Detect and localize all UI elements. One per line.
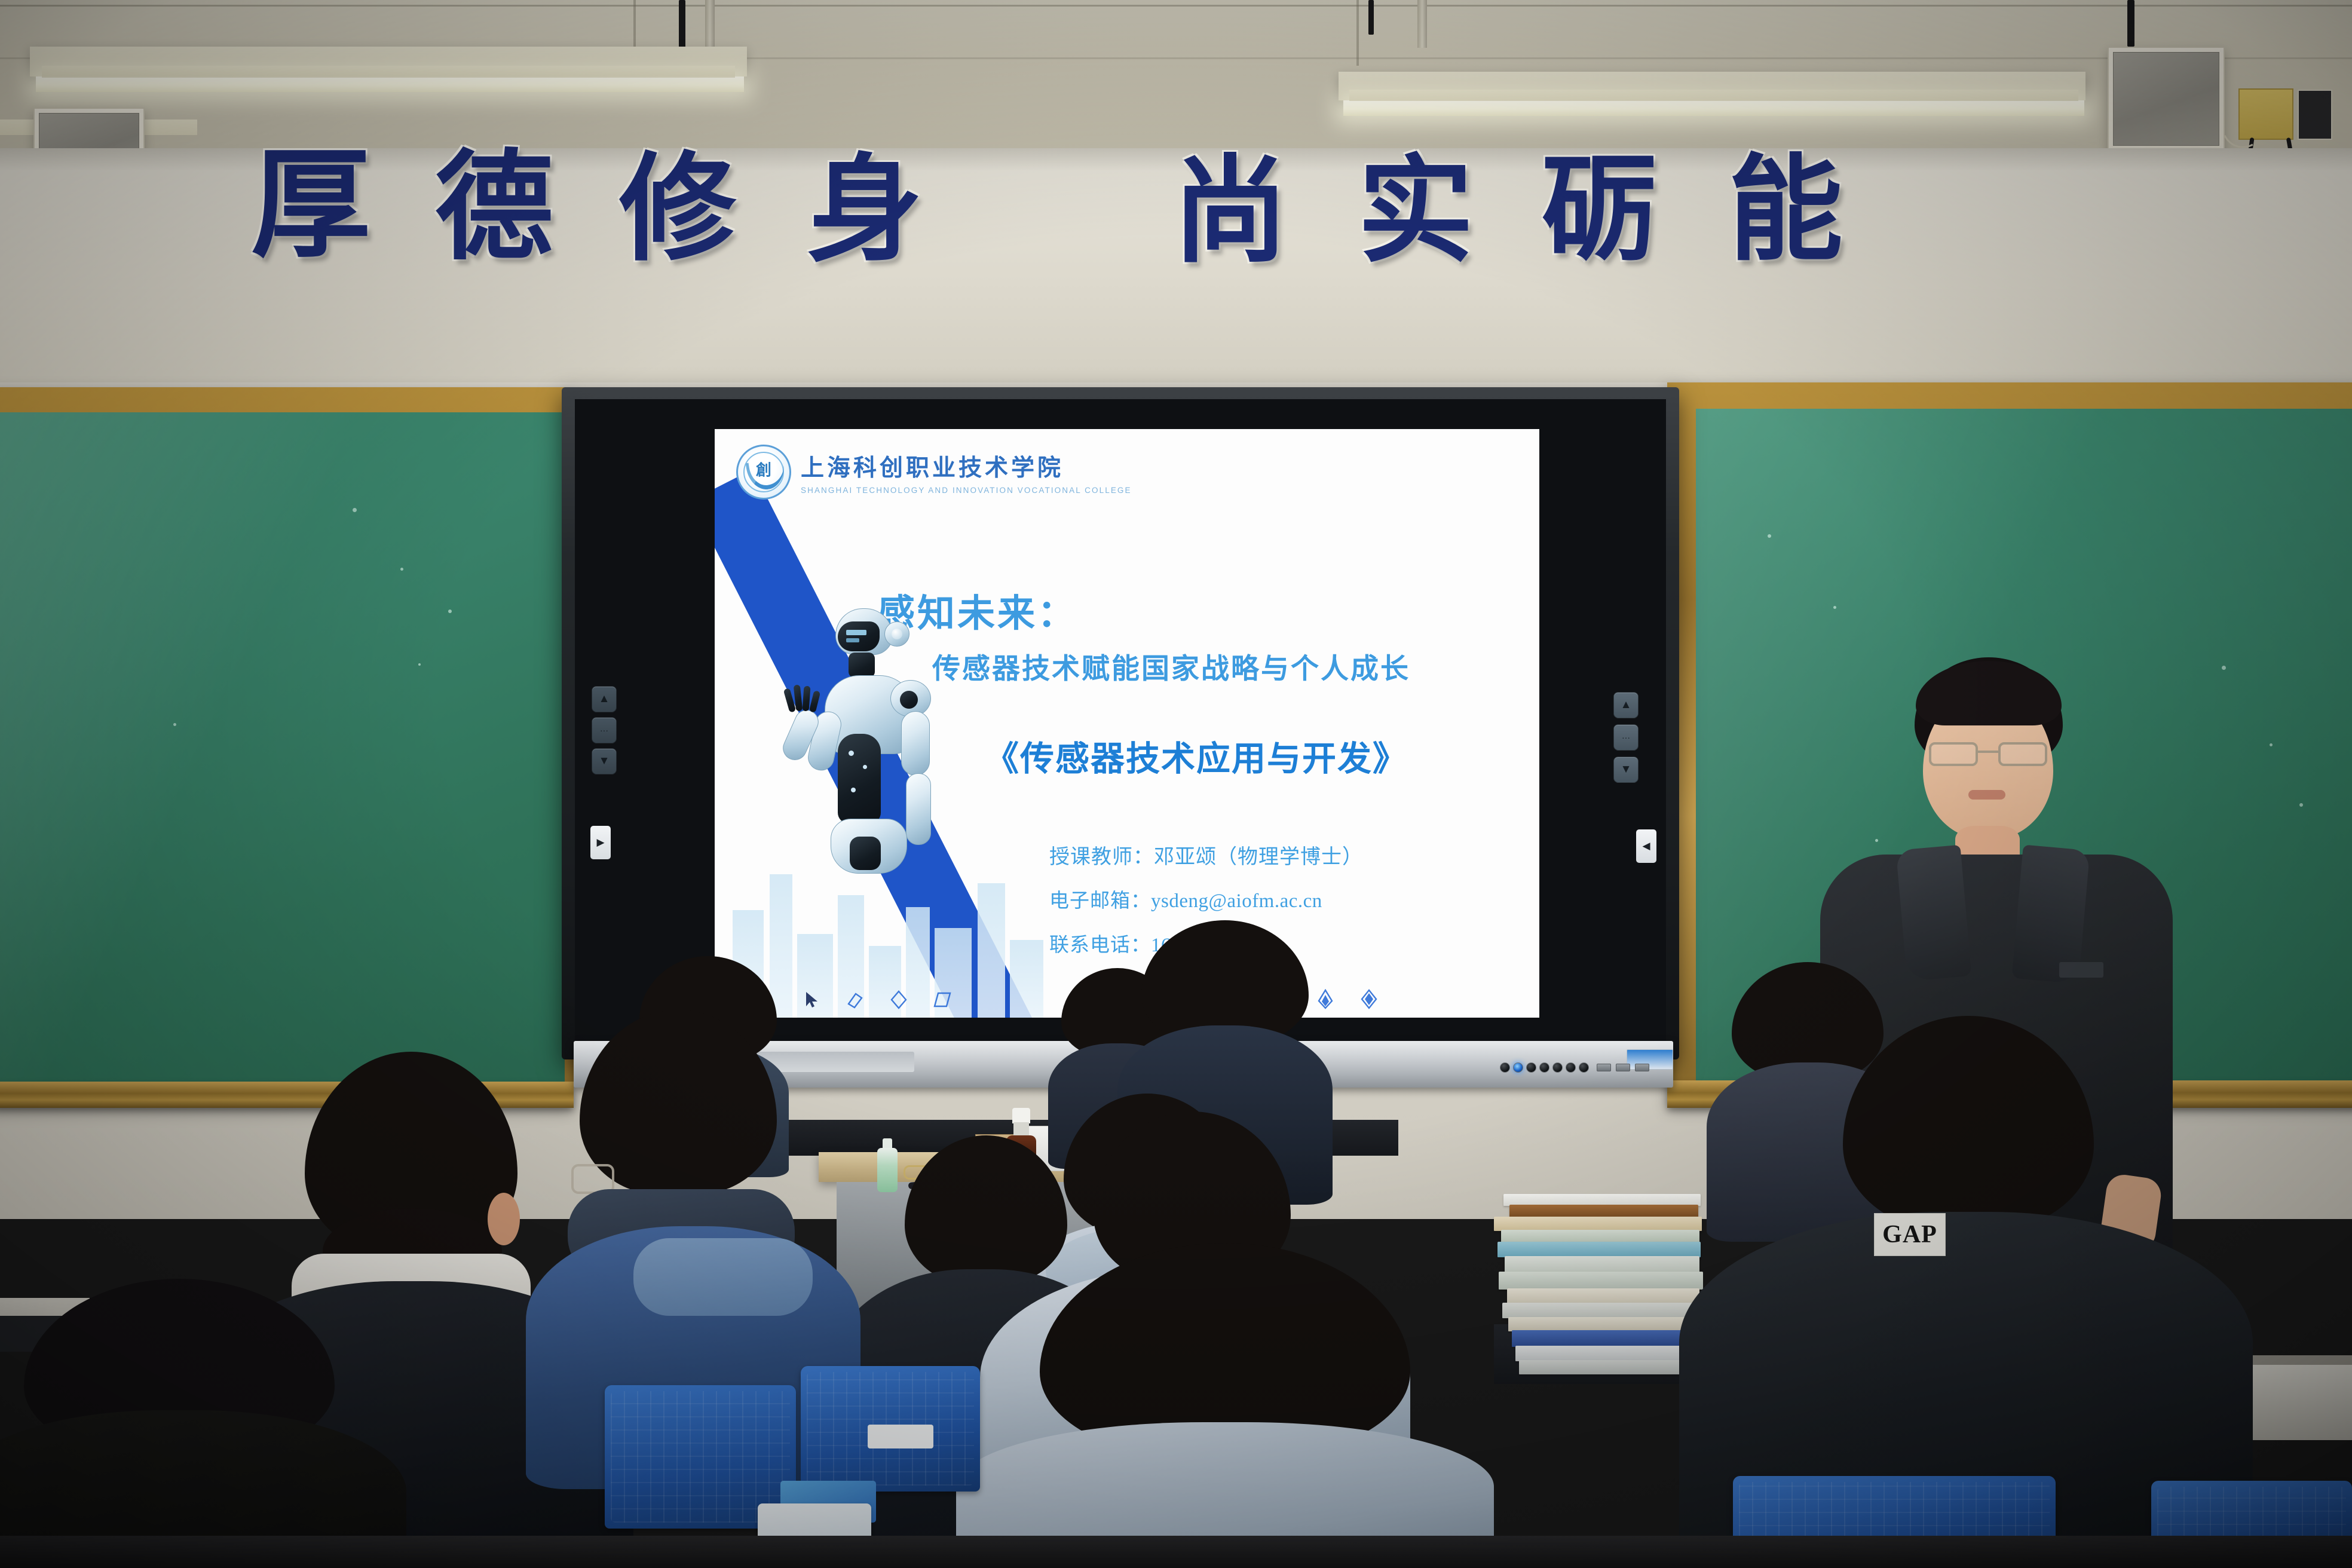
tray-port[interactable] [1552, 1062, 1563, 1073]
tray-port[interactable] [1500, 1062, 1510, 1073]
tissue-sheet [868, 1425, 933, 1448]
tray-port[interactable] [1579, 1062, 1589, 1073]
ceiling-pipe [1417, 0, 1427, 48]
banner-char: 砺 [1542, 153, 1656, 268]
institution-name-en: SHANGHAI TECHNOLOGY AND INNOVATION VOCAT… [801, 486, 1132, 495]
smartboard-tab-right[interactable]: ◀ [1636, 829, 1656, 863]
floor [0, 1536, 2352, 1568]
banner-char: 实 [1358, 153, 1474, 269]
cursor-icon[interactable] [804, 991, 820, 1009]
institution-name-cn: 上海科创职业技术学院 [801, 449, 1132, 483]
banner-char: 能 [1728, 153, 1843, 268]
tray-port[interactable] [1526, 1062, 1536, 1073]
highlighter-icon[interactable] [1360, 989, 1378, 1009]
course-title: 《传感器技术应用与开发》 [985, 731, 1408, 780]
institution-logo: 創 上海科创职业技术学院 SHANGHAI TECHNOLOGY AND INN… [736, 445, 1132, 500]
smartboard-btn-menu-right[interactable]: ··· [1613, 724, 1639, 751]
tray-power-led[interactable] [1513, 1062, 1523, 1073]
meta-label: 授课教师： [1049, 845, 1154, 869]
smartboard-btn-down-left[interactable]: ▼ [592, 748, 617, 774]
meta-label: 电子邮箱： [1049, 889, 1151, 912]
tray-usb-port[interactable] [1616, 1064, 1630, 1071]
smartboard-btn-up-left[interactable]: ▲ [592, 686, 617, 712]
meta-value: 邓亚颂（物理学博士） [1154, 845, 1363, 869]
smartboard-btn-down-right[interactable]: ▼ [1613, 757, 1639, 783]
banner-char: 德 [435, 148, 553, 267]
tray-port[interactable] [1539, 1062, 1549, 1073]
meta-row-email: 电子邮箱：ysdeng@aiofm.ac.cn [1049, 884, 1322, 913]
instructor-glasses [1929, 741, 2048, 768]
student-foreground-center [932, 1243, 1518, 1568]
fluorescent-tube-right [1343, 100, 2084, 116]
banner-char: 修 [619, 151, 736, 268]
slide-toolbar-icons[interactable] [804, 990, 951, 1009]
fluorescent-tube-left [36, 76, 744, 92]
wall-banner: 厚 德 修 身 尚 实 砺 能 [0, 149, 2352, 299]
smartboard-tab-left[interactable]: ▶ [590, 826, 611, 859]
ceiling-cable [1368, 0, 1374, 35]
smartboard-btn-menu-left[interactable]: ··· [592, 717, 617, 743]
power-adapter [2298, 90, 2332, 140]
chevron-up-icon: ▲ [1621, 699, 1632, 712]
tray-port[interactable] [1566, 1062, 1576, 1073]
banner-char: 尚 [1172, 153, 1288, 269]
college-seal-icon: 創 [736, 445, 791, 500]
tray-usb-port[interactable] [1597, 1064, 1611, 1071]
chevron-down-icon: ▼ [599, 755, 610, 768]
classroom-photo: 厚 德 修 身 尚 实 砺 能 ▲ ··· [0, 0, 2352, 1568]
humanoid-robot-graphic [773, 608, 953, 991]
banner-char: 厚 [251, 146, 370, 265]
diamond-icon[interactable] [890, 990, 907, 1009]
chevron-up-icon: ▲ [599, 693, 610, 706]
smartboard-screen[interactable]: 創 上海科创职业技术学院 SHANGHAI TECHNOLOGY AND INN… [715, 429, 1539, 1018]
diamond-outline-icon[interactable] [933, 991, 951, 1009]
gap-logo: GAP [1874, 1213, 1946, 1256]
eraser-icon[interactable] [846, 991, 864, 1009]
wall-speaker-right [2108, 47, 2225, 161]
seal-character: 創 [756, 458, 771, 480]
smartboard-btn-up-right[interactable]: ▲ [1613, 692, 1639, 718]
slide-title-line2: 传感器技术赋能国家战略与个人成长 [932, 645, 1410, 687]
ceiling-cable [2127, 0, 2134, 47]
student-foreground-left [0, 1279, 406, 1568]
chevron-down-icon: ▼ [1621, 763, 1632, 776]
smartboard-label-sticker [1627, 1049, 1673, 1070]
presentation-slide: 創 上海科创职业技术学院 SHANGHAI TECHNOLOGY AND INN… [715, 429, 1539, 1018]
chalkboard-left [0, 412, 565, 1082]
meta-row-teacher: 授课教师：邓亚颂（物理学博士） [1049, 840, 1363, 869]
tray-usb-port[interactable] [1635, 1064, 1649, 1071]
menu-dots-icon: ··· [600, 725, 608, 735]
meta-value: ysdeng@aiofm.ac.cn [1151, 890, 1322, 912]
banner-char: 身 [807, 152, 923, 268]
menu-dots-icon: ··· [1622, 733, 1630, 742]
